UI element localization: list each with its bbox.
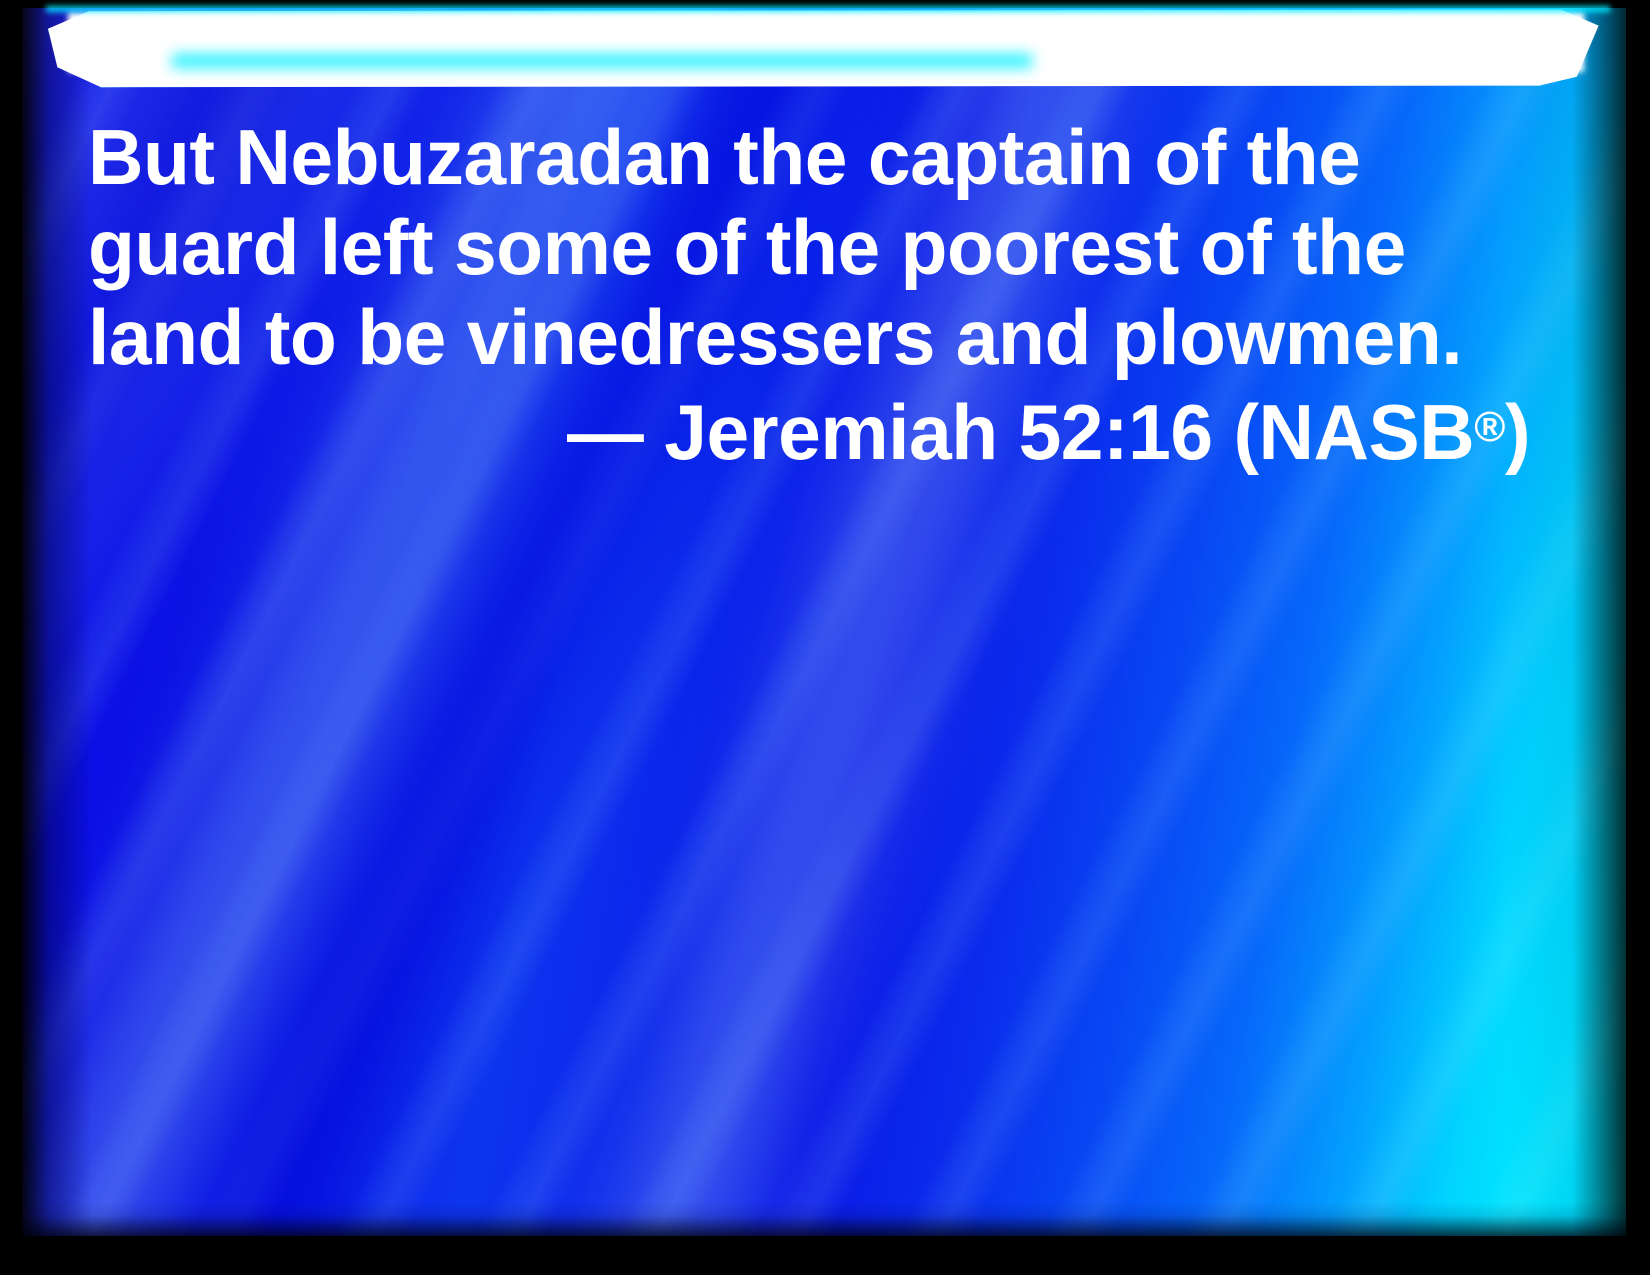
verse-body-text: But Nebuzaradan the captain of the guard…: [88, 112, 1536, 382]
left-edge-shadow: [22, 8, 92, 1236]
reference-book-name: Jeremiah: [664, 388, 997, 476]
verse-text-block: But Nebuzaradan the captain of the guard…: [88, 112, 1536, 477]
reference-translation-open-paren: (NASB: [1233, 388, 1474, 476]
reference-chapter-verse: 52:16: [1019, 388, 1213, 476]
reference-em-dash: —: [567, 388, 643, 476]
registered-trademark-icon: ®: [1474, 403, 1505, 451]
reference-translation-close-paren: ): [1505, 388, 1530, 476]
verse-slide: But Nebuzaradan the captain of the guard…: [0, 0, 1650, 1275]
bottom-edge-shadow: [22, 1202, 1626, 1236]
verse-reference: — Jeremiah 52:16 (NASB®): [88, 382, 1536, 477]
